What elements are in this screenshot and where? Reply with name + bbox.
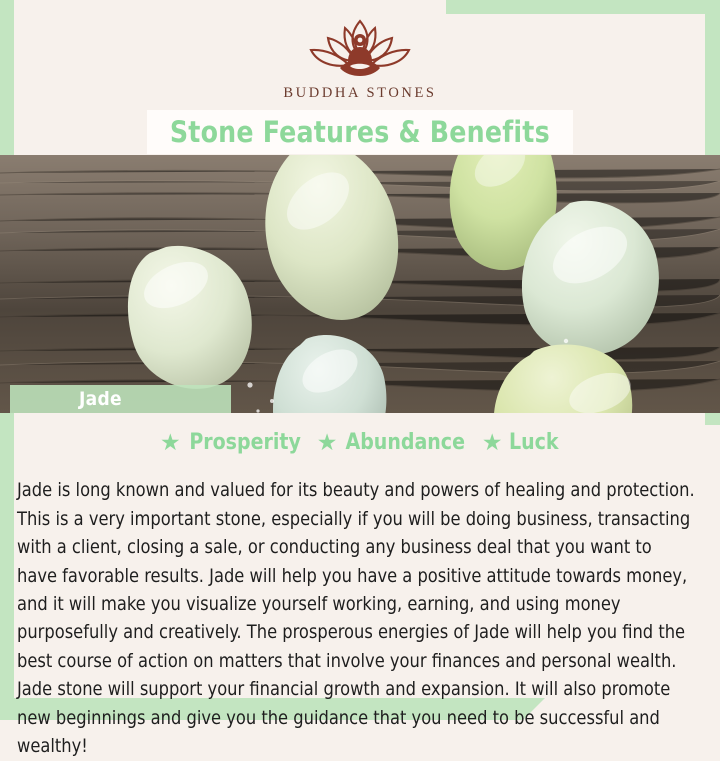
benefit-label: Abundance [346,430,465,455]
benefits-row: ★ Prosperity ★ Abundance ★ Luck [0,430,720,455]
benefit-item-luck: ★ Luck [482,430,560,455]
stone-name: Jade [79,388,122,410]
title-banner: Stone Features & Benefits [147,110,573,154]
benefit-item-abundance: ★ Abundance [317,430,468,455]
star-icon: ★ [317,431,338,454]
benefit-item-prosperity: ★ Prosperity [160,430,303,455]
brand-logo-block: BUDDHA STONES [0,16,720,102]
stone-name-band: Jade [10,385,231,413]
star-icon: ★ [160,431,181,454]
star-icon: ★ [482,431,503,454]
stone-photo [0,155,720,413]
accent-bar-top-right [446,0,720,14]
page-title: Stone Features & Benefits [170,115,550,149]
benefit-label: Prosperity [189,430,301,455]
stone-description: Jade is long known and valued for its be… [17,477,695,761]
benefit-label: Luck [509,430,559,455]
lotus-meditation-icon [285,16,435,82]
brand-name: BUDDHA STONES [283,85,436,102]
